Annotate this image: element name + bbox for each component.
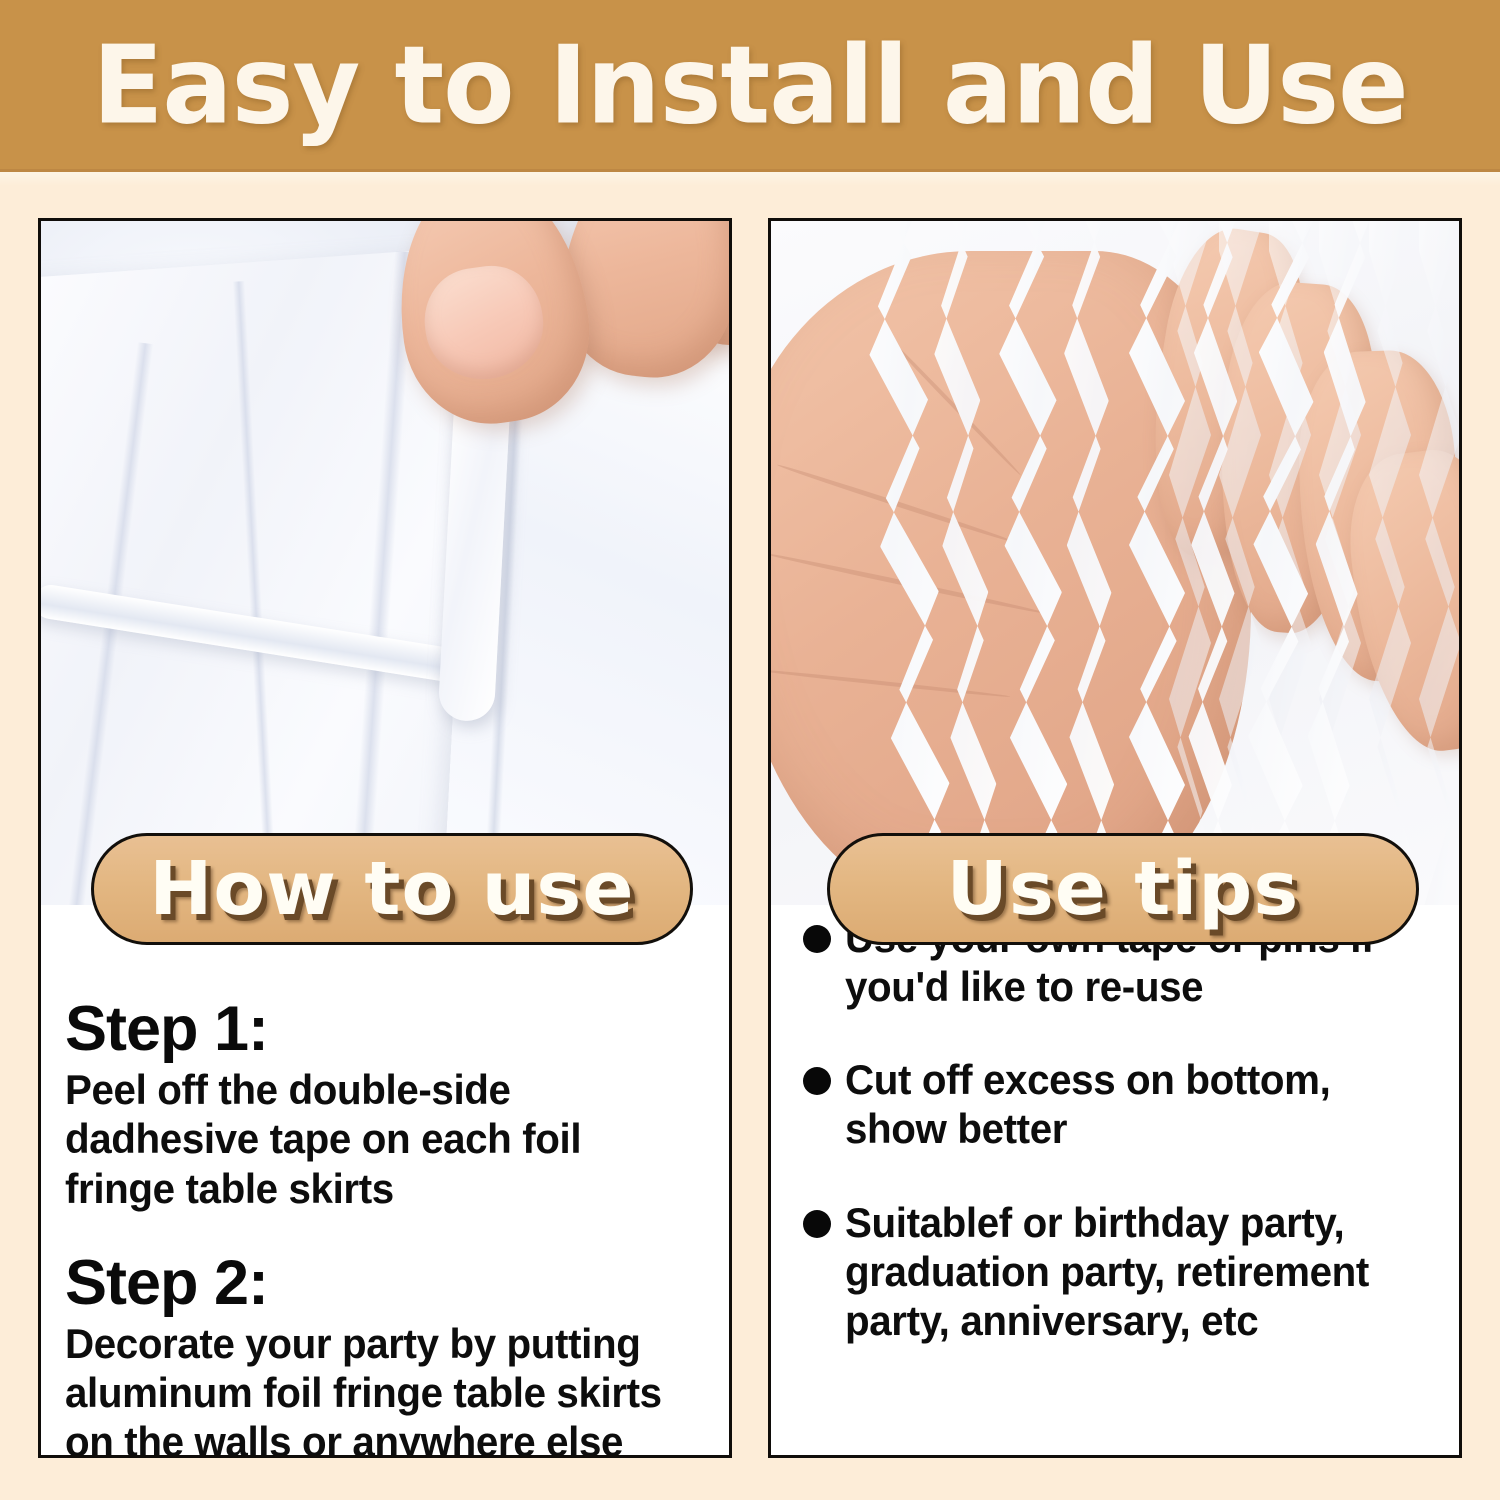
use-tips-badge: Use tips — [827, 833, 1419, 945]
step-2-block: Step 2: Decorate your party by putting a… — [65, 1251, 703, 1458]
page-title: Easy to Install and Use — [92, 30, 1407, 138]
fringe-strip — [1185, 221, 1240, 905]
tip-text: Cut off excess on bottom, show better — [845, 1055, 1409, 1153]
background-fringe-strip — [1419, 221, 1459, 905]
use-tips-badge-label: Use tips — [947, 852, 1300, 926]
bullet-dot-icon — [803, 1067, 831, 1095]
peel-tape-photo — [41, 221, 729, 905]
bullet-dot-icon — [803, 925, 831, 953]
tip-text: Suitablef or birthday party, graduation … — [845, 1198, 1409, 1345]
header-underglow — [0, 172, 1500, 186]
fringe-strip — [994, 221, 1072, 905]
panels-row: How to use Step 1: Peel off the double-s… — [38, 218, 1462, 1458]
how-to-use-panel: How to use Step 1: Peel off the double-s… — [38, 218, 732, 1458]
infographic-page: Easy to Install and Use How to use — [0, 0, 1500, 1500]
how-to-use-text-area: Step 1: Peel off the double-side dadhesi… — [41, 905, 729, 1458]
tip-item: Suitablef or birthday party, graduation … — [795, 1198, 1433, 1345]
hand-holding-fringe-photo — [771, 221, 1459, 905]
step-2-body: Decorate your party by putting aluminum … — [65, 1319, 677, 1458]
fringe-strip — [1129, 221, 1185, 905]
bullet-dot-icon — [803, 1210, 831, 1238]
fringe-strip — [1298, 221, 1375, 905]
header-banner: Easy to Install and Use — [0, 0, 1500, 172]
step-2-heading: Step 2: — [65, 1251, 703, 1315]
step-1-block: Step 1: Peel off the double-side dadhesi… — [65, 997, 703, 1213]
use-tips-text-area: Use your own tape or pins if you'd like … — [771, 905, 1459, 1458]
foil-fringe-strips — [881, 221, 1401, 905]
use-tips-panel: Use tips Use your own tape or pins if yo… — [768, 218, 1462, 1458]
how-to-use-badge: How to use — [91, 833, 693, 945]
tip-item: Cut off excess on bottom, show better — [795, 1055, 1433, 1153]
step-1-body: Peel off the double-side dadhesive tape … — [65, 1065, 677, 1212]
fringe-strip — [1242, 221, 1320, 905]
how-to-use-badge-label: How to use — [149, 852, 634, 926]
fringe-strip — [1061, 221, 1116, 905]
step-1-heading: Step 1: — [65, 997, 703, 1061]
